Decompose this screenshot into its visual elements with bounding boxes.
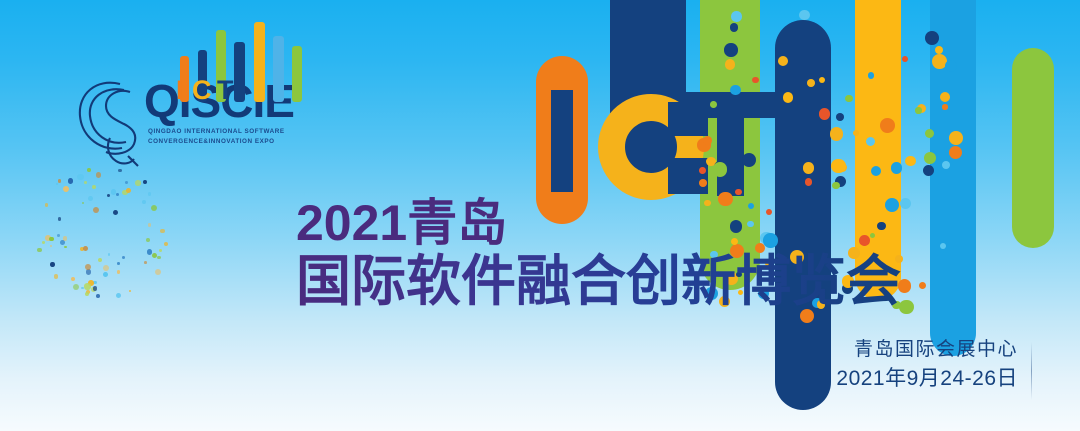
- globe-dot: [146, 238, 150, 242]
- confetti-dot: [730, 85, 741, 96]
- confetti-dot: [710, 101, 717, 108]
- globe-dot: [84, 181, 87, 184]
- globe-dot: [85, 292, 89, 296]
- globe-dot: [164, 242, 168, 246]
- confetti-dot: [924, 152, 936, 164]
- ict-small-bar-3: [234, 42, 245, 102]
- venue-divider: [1031, 342, 1032, 400]
- globe-dot: [111, 189, 116, 194]
- globe-dot: [126, 188, 131, 193]
- page-title: 2021青岛 国际软件融合创新博览会: [296, 196, 901, 311]
- globe-dot: [148, 192, 151, 195]
- globe-dot: [83, 246, 88, 251]
- globe-dot: [54, 274, 58, 278]
- ict-small-logo: I C T: [168, 22, 308, 112]
- confetti-dot: [830, 127, 844, 141]
- globe-dot: [45, 203, 48, 206]
- confetti-dot: [902, 56, 908, 62]
- title-line-2: 国际软件融合创新博览会: [296, 252, 901, 311]
- globe-dot: [49, 237, 53, 241]
- confetti-dot: [915, 107, 921, 113]
- confetti-dot: [699, 167, 706, 174]
- qiscie-tagline-line2: CONVERGENCE&INNOVATION EXPO: [148, 138, 275, 145]
- letter-i-stem: [551, 90, 573, 192]
- globe-dot: [113, 210, 118, 215]
- globe-dot: [86, 269, 91, 274]
- confetti-dot: [703, 136, 712, 145]
- confetti-dot: [832, 182, 840, 190]
- confetti-dot: [699, 179, 707, 187]
- ict-small-letter-c: C: [192, 77, 212, 104]
- venue-info: 青岛国际会展中心 2021年9月24-26日: [836, 336, 1018, 394]
- globe-dot: [103, 272, 108, 277]
- confetti-dot: [945, 60, 957, 72]
- globe-dot: [116, 293, 122, 299]
- globe-dot: [56, 183, 58, 185]
- confetti-dot: [905, 156, 916, 167]
- confetti-dot: [949, 131, 963, 145]
- globe-dot: [63, 186, 69, 192]
- confetti-dot: [919, 282, 926, 289]
- globe-dot: [122, 256, 125, 259]
- globe-dot: [143, 180, 148, 185]
- globe-dot: [73, 284, 79, 290]
- confetti-dot: [836, 113, 844, 121]
- confetti-dot: [803, 162, 815, 174]
- globe-dot: [160, 229, 165, 234]
- confetti-dot: [925, 31, 939, 45]
- globe-dot: [96, 294, 100, 298]
- bar-green-right: [1012, 48, 1054, 248]
- confetti-dot: [799, 10, 809, 20]
- ict-expo-banner: QISCIE QINGDAO INTERNATIONAL SOFTWARE CO…: [0, 0, 1080, 431]
- globe-dot: [37, 248, 42, 253]
- confetti-dot: [713, 162, 727, 176]
- globe-dot: [82, 202, 84, 204]
- confetti-dot: [880, 118, 895, 133]
- globe-dot: [155, 269, 161, 275]
- letter-c-notch-lower: [668, 158, 708, 194]
- globe-dot: [135, 180, 140, 185]
- globe-dot: [93, 281, 97, 285]
- globe-dot: [84, 283, 90, 289]
- ict-small-bar-4: [254, 22, 265, 102]
- title-line-1: 2021青岛: [296, 196, 901, 250]
- globe-dot: [81, 287, 84, 290]
- confetti-dot: [731, 11, 741, 21]
- globe-dot: [103, 265, 109, 271]
- ict-small-letter-t: T: [217, 77, 234, 104]
- letter-t-stem: [717, 92, 744, 196]
- globe-dot: [142, 200, 146, 204]
- qiscie-tagline-line1: QINGDAO INTERNATIONAL SOFTWARE: [148, 128, 285, 135]
- venue-name: 青岛国际会展中心: [836, 336, 1018, 364]
- confetti-dot: [724, 43, 737, 56]
- globe-dot: [93, 207, 99, 213]
- confetti-dot: [819, 108, 831, 120]
- globe-dot: [42, 241, 45, 244]
- globe-dot: [107, 194, 111, 198]
- globe-dot: [60, 240, 65, 245]
- globe-dot: [129, 290, 131, 292]
- confetti-dot: [725, 59, 735, 69]
- globe-dot: [117, 262, 120, 265]
- globe-dot: [58, 179, 62, 183]
- confetti-dot: [735, 189, 741, 195]
- globe-dot: [117, 270, 120, 273]
- confetti-dot: [807, 79, 815, 87]
- ict-small-bar-5: [273, 36, 284, 102]
- confetti-dot: [778, 56, 788, 66]
- confetti-dot: [868, 72, 875, 79]
- confetti-dot: [949, 146, 962, 159]
- globe-dot: [88, 196, 93, 201]
- globe-dot: [50, 262, 55, 267]
- confetti-dot: [752, 77, 758, 83]
- confetti-dot: [845, 95, 853, 103]
- confetti-dot: [853, 130, 859, 136]
- confetti-dot: [891, 162, 902, 173]
- globe-dot: [68, 178, 74, 184]
- confetti-dot: [899, 300, 914, 315]
- ict-small-bar-6: [292, 46, 302, 102]
- globe-dot: [93, 286, 97, 290]
- ict-small-letter-i: I: [176, 77, 184, 104]
- globe-dot: [108, 253, 110, 255]
- globe-dot: [57, 234, 60, 237]
- globe-dot: [159, 249, 162, 252]
- globe-dot: [152, 253, 157, 258]
- globe-dot: [85, 264, 91, 270]
- globe-dot: [116, 193, 119, 196]
- confetti-dot: [942, 104, 947, 109]
- globe-dot: [125, 181, 128, 184]
- confetti-dot: [925, 129, 934, 138]
- confetti-dot: [940, 92, 950, 102]
- globe-dot: [50, 245, 52, 247]
- globe-dot: [71, 277, 75, 281]
- globe-dot: [148, 223, 152, 227]
- globe-dot: [157, 256, 161, 260]
- confetti-dot: [831, 159, 846, 174]
- globe-dot: [151, 205, 157, 211]
- globe-dot: [98, 258, 102, 262]
- globe-dot: [92, 185, 96, 189]
- globe-dot: [64, 246, 67, 249]
- globe-dot: [144, 261, 147, 264]
- confetti-dot: [942, 161, 950, 169]
- confetti-dot: [900, 198, 911, 209]
- event-date: 2021年9月24-26日: [836, 364, 1018, 394]
- globe-dot: [58, 217, 62, 221]
